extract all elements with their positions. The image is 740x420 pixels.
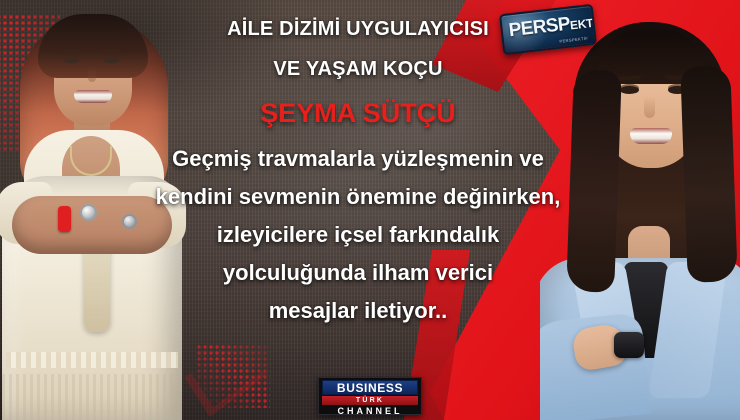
channel-logo-line-1-row: BUSINESS bbox=[322, 380, 418, 395]
description-line: mesajlar iletiyor.. bbox=[144, 292, 572, 330]
channel-logo-turk: TÜRK bbox=[356, 397, 384, 404]
guest-name: ŞEYMA SÜTÇÜ bbox=[150, 98, 566, 129]
description-line: Geçmiş travmalarla yüzleşmenin ve bbox=[144, 140, 572, 178]
channel-logo-line-3-row: CHANNEL bbox=[322, 406, 418, 417]
description-line: kendini sevmenin önemine değinirken, bbox=[144, 178, 572, 216]
channel-logo-line-2-row: TÜRK bbox=[322, 396, 418, 405]
description-line: izleyicilere içsel farkındalık bbox=[144, 216, 572, 254]
channel-logo-business: BUSINESS bbox=[337, 382, 403, 394]
program-logo-tail: EKTİF bbox=[569, 15, 597, 33]
channel-logo-channel: CHANNEL bbox=[338, 407, 403, 416]
description-line: yolculuğunda ilham verici bbox=[144, 254, 572, 292]
program-logo-main: PERSP bbox=[508, 14, 571, 42]
channel-logo-business-turk-channel: BUSINESS TÜRK CHANNEL bbox=[318, 377, 422, 415]
description-block: Geçmiş travmalarla yüzleşmenin ve kendin… bbox=[144, 140, 572, 330]
kicker-line-2: VE YAŞAM KOÇU bbox=[150, 58, 566, 81]
program-logo-footnote: PERSPEKTİF bbox=[559, 36, 588, 44]
headline-block: AİLE DİZİMİ UYGULAYICISI VE YAŞAM KOÇU Ş… bbox=[150, 0, 566, 420]
news-thumbnail-graphic: AİLE DİZİMİ UYGULAYICISI VE YAŞAM KOÇU Ş… bbox=[0, 0, 740, 420]
